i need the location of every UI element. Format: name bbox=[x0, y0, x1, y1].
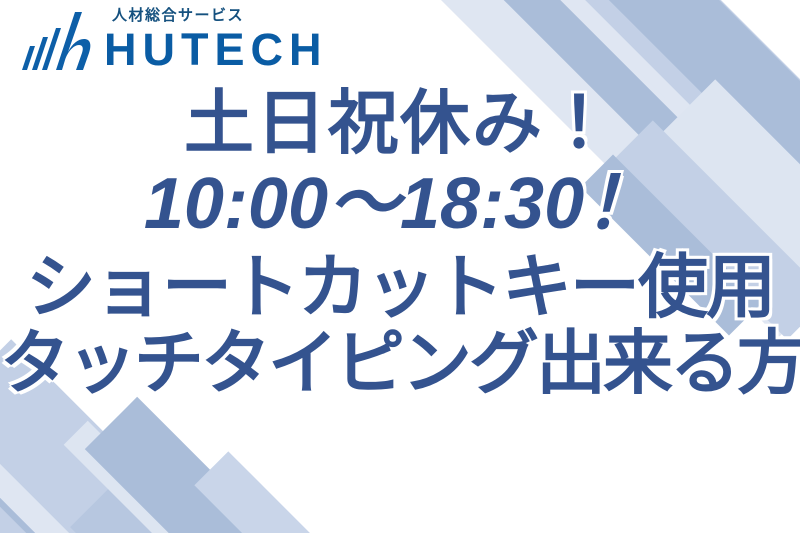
hutech-h-mark-icon bbox=[14, 6, 92, 82]
logo-text-group: 人材総合サービス HUTECH bbox=[104, 6, 328, 72]
logo-tagline: 人材総合サービス bbox=[112, 8, 328, 23]
company-logo: 人材総合サービス HUTECH bbox=[14, 6, 328, 82]
diagonal-band bbox=[0, 482, 160, 533]
diagonal-band bbox=[0, 402, 138, 533]
headline-line-2: 10:00〜18:30！ bbox=[0, 168, 800, 240]
diagonal-band bbox=[85, 397, 441, 533]
headline-block: 土日祝休み！ 10:00〜18:30！ ショートカットキー使用 タッチタイピング… bbox=[0, 88, 800, 398]
diagonal-band bbox=[70, 486, 288, 533]
logo-wordmark: HUTECH bbox=[104, 27, 328, 72]
recruitment-banner: 人材総合サービス HUTECH 土日祝休み！ 10:00〜18:30！ ショート… bbox=[0, 0, 800, 533]
headline-line-3: ショートカットキー使用 bbox=[0, 252, 800, 322]
headline-line-4: タッチタイピング出来る方 bbox=[0, 328, 800, 398]
headline-line-1: 土日祝休み！ bbox=[0, 88, 800, 158]
diagonal-band bbox=[64, 421, 343, 533]
diagonal-band bbox=[194, 451, 461, 533]
